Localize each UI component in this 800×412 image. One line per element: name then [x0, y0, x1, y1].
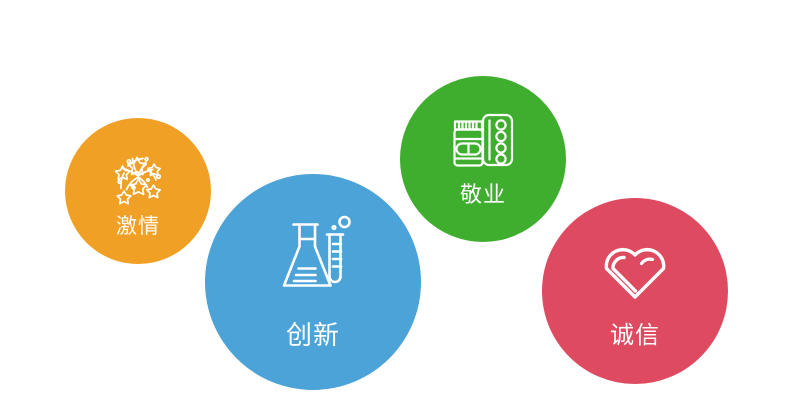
- heart-outline-icon: [597, 235, 673, 303]
- value-circle-innovation-label: 创新: [286, 323, 340, 349]
- firework-stars-icon: [107, 146, 169, 208]
- core-values-graphic: 激情: [0, 0, 800, 412]
- value-circle-dedication-content: 敬业: [400, 76, 566, 244]
- value-circle-innovation[interactable]: 创新: [205, 174, 421, 390]
- value-circle-passion[interactable]: 激情: [65, 118, 211, 264]
- value-circle-innovation-content: 创新: [205, 174, 421, 396]
- value-circle-passion-label: 激情: [116, 216, 160, 237]
- value-circle-integrity-label: 诚信: [610, 323, 660, 347]
- value-circle-integrity[interactable]: 诚信: [542, 198, 728, 384]
- value-circle-dedication[interactable]: 敬业: [400, 76, 566, 242]
- value-circle-integrity-content: 诚信: [542, 198, 728, 388]
- flask-test-tube-icon: [270, 215, 356, 301]
- medicine-bottle-blister-pack-icon: [450, 111, 516, 173]
- value-circle-passion-content: 激情: [65, 118, 211, 266]
- value-circle-dedication-label: 敬业: [460, 185, 506, 207]
